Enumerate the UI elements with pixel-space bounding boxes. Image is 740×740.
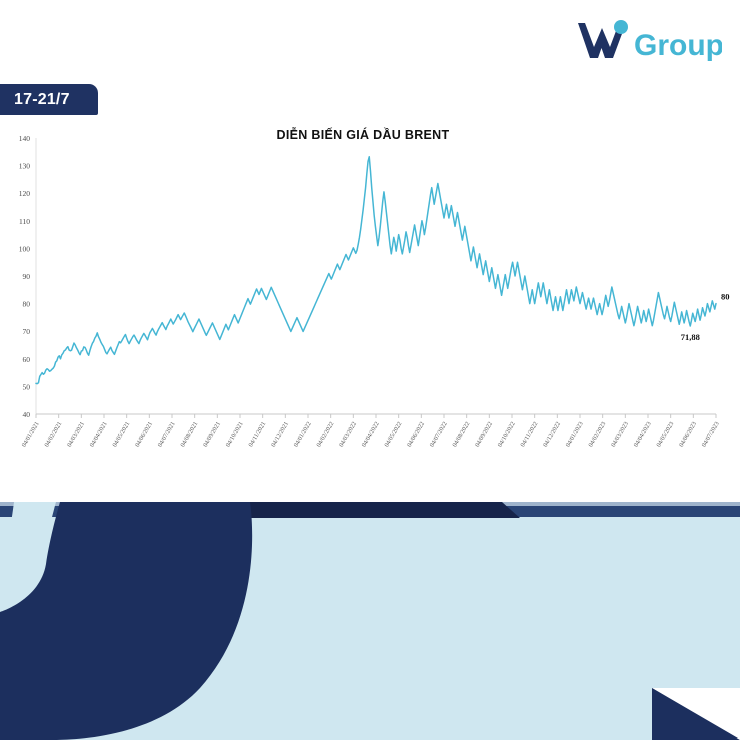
x-axis-tick-label: 04/05/2022 [383,421,403,449]
brent-price-line [36,157,716,384]
x-axis-tick-label: 04/06/2023 [678,421,698,449]
x-axis-tick-label: 04/08/2021 [179,421,199,449]
x-axis-tick-label: 04/01/2022 [293,421,313,449]
y-axis-tick-label: 60 [23,355,31,364]
x-axis-tick-label: 04/09/2022 [474,421,494,449]
y-axis-tick-label: 120 [19,189,31,198]
x-axis-tick-label: 04/01/2021 [21,421,41,449]
y-axis-tick-label: 70 [23,327,31,336]
x-axis-tick-label: 04/02/2021 [43,421,63,449]
y-axis-tick-label: 100 [19,244,31,253]
y-axis-tick-label: 90 [23,272,31,281]
infographic-page: Group 17-21/7 DIỄN BIẾN GIÁ DẦU BRENT 40… [0,0,740,740]
x-axis-tick-label: 04/05/2023 [655,421,675,449]
brent-price-chart: 40506070809010011012013014004/01/202104/… [0,124,740,484]
x-axis-tick-label: 04/07/2022 [429,421,449,449]
x-axis-tick-label: 04/06/2021 [134,421,154,449]
y-axis-tick-label: 130 [19,162,31,171]
date-badge-label: 17-21/7 [14,91,70,109]
x-axis-tick-label: 04/10/2022 [497,421,517,449]
x-axis-tick-label: 04/01/2023 [565,421,585,449]
x-axis-tick-label: 04/04/2022 [361,421,381,449]
wigroup-logo: Group [572,14,722,68]
date-badge: 17-21/7 [0,84,98,115]
x-axis-tick-label: 04/05/2021 [111,421,131,449]
summary-background [0,492,740,740]
x-axis-tick-label: 04/02/2022 [315,421,335,449]
x-axis-tick-label: 04/12/2022 [542,421,562,449]
y-axis-tick-label: 110 [19,217,30,226]
x-axis-tick-label: 04/03/2023 [610,421,630,449]
x-axis-tick-label: 04/04/2023 [633,421,653,449]
wigroup-logo-mark: Group [572,14,722,68]
x-axis-tick-label: 04/04/2021 [89,421,109,449]
x-axis-tick-label: 04/09/2021 [202,421,222,449]
y-axis-tick-label: 140 [19,134,31,143]
annotation-latest-value: 80 [721,292,730,302]
x-axis-tick-label: 04/11/2021 [247,421,267,449]
x-axis-tick-label: 04/03/2022 [338,421,358,449]
svg-text:Group: Group [634,29,722,62]
y-axis-tick-label: 40 [23,410,31,419]
annotation-low-value: 71,88 [681,332,700,342]
x-axis-tick-label: 04/06/2022 [406,421,426,449]
x-axis-tick-label: 04/10/2021 [225,421,245,449]
chart-canvas: 40506070809010011012013014004/01/202104/… [0,124,740,484]
chart-section: Group 17-21/7 DIỄN BIẾN GIÁ DẦU BRENT 40… [0,0,740,492]
x-axis-tick-label: 04/08/2022 [451,421,471,449]
x-axis-tick-label: 04/12/2021 [270,421,290,449]
y-axis-tick-label: 80 [23,300,31,309]
x-axis-tick-label: 04/11/2022 [519,421,539,449]
x-axis-tick-label: 04/03/2021 [66,421,86,449]
x-axis-tick-label: 04/07/2021 [157,421,177,449]
x-axis-tick-label: 04/02/2023 [587,421,607,449]
summary-section: Tổng quan VĨ MÔ TUẦN cùng DIỄN BIẾN GIÁ … [0,492,740,740]
y-axis-tick-label: 50 [23,382,31,391]
x-axis-tick-label: 04/07/2023 [701,421,721,449]
